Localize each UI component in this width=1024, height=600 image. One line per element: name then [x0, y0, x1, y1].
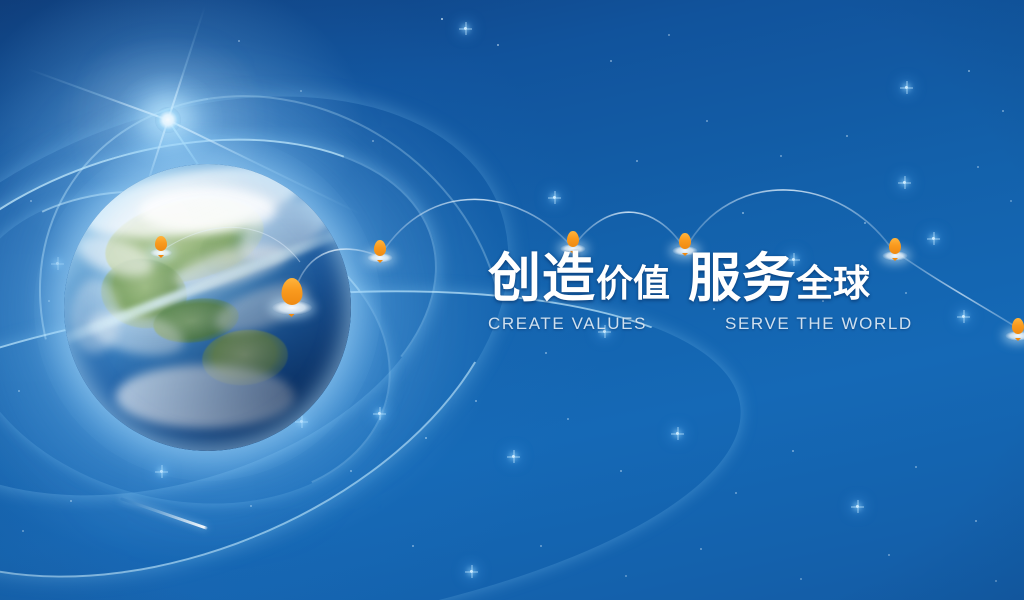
vignette-overlay [0, 0, 1024, 600]
banner-stage: 创造价值服务全球 CREATE VALUESSERVE THE WORLD [0, 0, 1024, 600]
